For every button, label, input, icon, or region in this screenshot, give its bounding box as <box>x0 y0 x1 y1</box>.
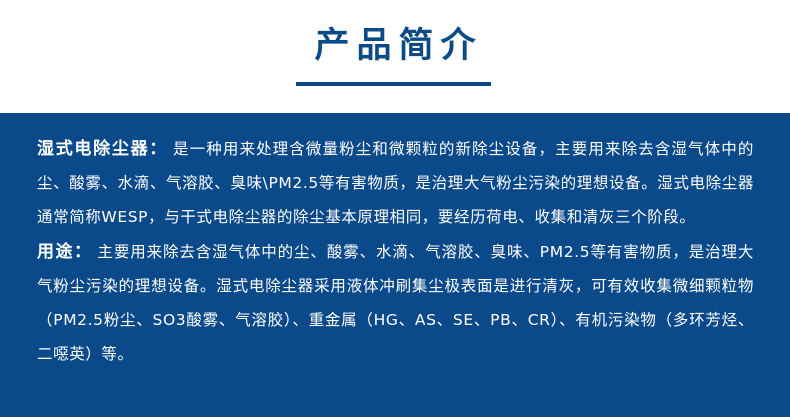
description-panel: 湿式电除尘器：是一种用来处理含微量粉尘和微颗粒的新除尘设备，主要用来除去含湿气体… <box>0 113 790 417</box>
page-header: 产品简介 <box>0 0 790 113</box>
paragraph-lead-label: 湿式电除尘器： <box>37 139 168 159</box>
paragraph-product-usage: 用途：主要用来除去含湿气体中的尘、酸雾、水滴、气溶胶、臭味、PM2.5等有害物质… <box>37 235 754 371</box>
paragraph-product-definition: 湿式电除尘器：是一种用来处理含微量粉尘和微颗粒的新除尘设备，主要用来除去含湿气体… <box>37 132 754 234</box>
title-underline-bar <box>296 82 491 86</box>
product-intro-page: 产品简介 湿式电除尘器：是一种用来处理含微量粉尘和微颗粒的新除尘设备，主要用来除… <box>0 0 790 417</box>
paragraph-body-text: 主要用来除去含湿气体中的尘、酸雾、水滴、气溶胶、臭味、PM2.5等有害物质，是治… <box>37 243 754 363</box>
page-title: 产品简介 <box>0 24 790 68</box>
paragraph-lead-label: 用途： <box>37 242 92 262</box>
